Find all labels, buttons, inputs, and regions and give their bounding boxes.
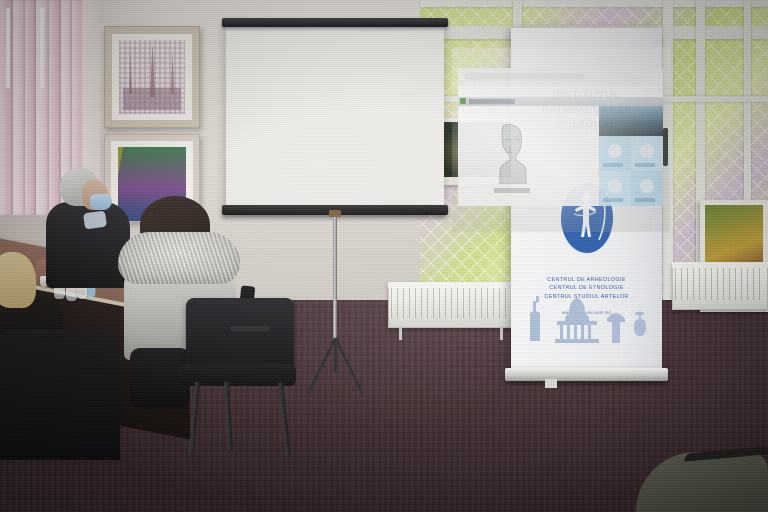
cathedral-drawing — [119, 40, 185, 114]
radiator-leg — [500, 326, 503, 340]
statue-figure-silhouette — [530, 296, 540, 341]
window-head-rail — [420, 0, 768, 7]
blonde-hair — [0, 252, 36, 308]
chair-leg — [189, 382, 200, 454]
screen-fabric-shading — [452, 48, 670, 232]
projector-screen — [226, 24, 444, 208]
blind-louver — [25, 0, 36, 215]
radiator-left — [388, 282, 518, 328]
chair-leg — [224, 382, 233, 450]
fur-texture — [118, 232, 240, 284]
blind-daylight-slit — [6, 8, 10, 88]
radiator-right — [672, 262, 768, 310]
chair-foreground-left[interactable] — [0, 330, 120, 460]
shirt-collar — [83, 211, 107, 230]
conference-room-photo: INSTITUTUL PATRIMONIULUI CULTURAL CENTRU… — [0, 0, 768, 512]
framed-architectural-drawing — [104, 26, 200, 128]
stacking-chair[interactable] — [178, 298, 300, 458]
radiator-fins — [391, 288, 515, 318]
radiator-fins — [675, 268, 765, 300]
blue-face-mask — [90, 194, 112, 210]
tripod-leg — [334, 338, 337, 372]
banner-silhouette-strip — [511, 293, 662, 351]
radiator-leg — [399, 326, 402, 340]
archaeological-structure-silhouette — [607, 313, 625, 343]
banner-subtitle-line-2: CENTRUL DE ETNOLOGIE — [511, 284, 662, 292]
tripod-collar — [329, 210, 341, 217]
blind-louver — [13, 0, 25, 215]
cathedral-body — [123, 88, 181, 110]
banner-subtitle-line-1: CENTRUL DE ARHEOLOGIE — [511, 276, 662, 284]
screen-top-rail — [222, 18, 448, 27]
backrest-slot — [230, 326, 270, 331]
blind-daylight-slit — [40, 8, 44, 88]
banner-support-foot — [545, 379, 557, 388]
chair-leg — [278, 382, 291, 456]
dome-silhouette — [565, 298, 589, 321]
amphora-silhouette — [634, 313, 646, 336]
banner-base-cassette — [505, 368, 668, 381]
tripod-center-pole — [333, 214, 337, 342]
